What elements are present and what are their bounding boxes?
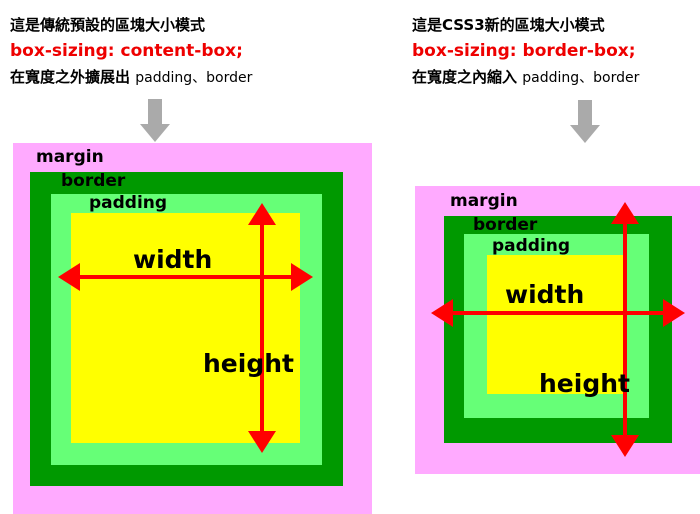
height-dimension-arrow: [248, 203, 276, 453]
caption-left-line-3: 在寬度之外擴展出 padding、border: [10, 64, 252, 91]
padding-label: padding: [89, 194, 167, 213]
arrow-head: [140, 124, 170, 142]
caption-left-code: box-sizing: content-box;: [10, 38, 252, 64]
height-label: height: [203, 350, 294, 377]
height-arrow-head-up: [248, 203, 276, 225]
box-model-diagram-content-box: margin border padding width height: [13, 143, 372, 514]
caption-right-line-3-prefix: 在寬度之內縮入: [412, 68, 517, 86]
caption-right-line-3: 在寬度之內縮入 padding、border: [412, 64, 639, 91]
height-arrow-head-down: [248, 431, 276, 453]
height-arrow-head-down: [611, 435, 639, 457]
margin-label: margin: [450, 192, 518, 211]
arrow-head: [570, 125, 600, 143]
arrow-down-icon: [140, 99, 170, 143]
height-arrow-head-up: [611, 202, 639, 224]
caption-right-line-1: 這是CSS3新的區塊大小模式: [412, 12, 639, 38]
height-dimension-arrow: [611, 202, 639, 457]
caption-left-line-3-mono: padding、border: [135, 70, 252, 86]
border-label: border: [61, 172, 125, 191]
caption-right-code: box-sizing: border-box;: [412, 38, 639, 64]
caption-content-box: 這是傳統預設的區塊大小模式 box-sizing: content-box; 在…: [10, 12, 252, 91]
arrow-shaft: [148, 99, 162, 125]
height-arrow-bar: [623, 215, 627, 444]
margin-label: margin: [36, 148, 104, 167]
caption-border-box: 這是CSS3新的區塊大小模式 box-sizing: border-box; 在…: [412, 12, 639, 91]
width-arrow-head-right: [291, 263, 313, 291]
caption-left-line-3-prefix: 在寬度之外擴展出: [10, 68, 130, 86]
width-arrow-head-left: [431, 299, 453, 327]
arrow-shaft: [578, 100, 592, 126]
border-label: border: [473, 216, 537, 235]
width-label: width: [133, 246, 212, 273]
height-arrow-bar: [260, 216, 264, 440]
caption-left-line-1: 這是傳統預設的區塊大小模式: [10, 12, 252, 38]
width-arrow-head-right: [663, 299, 685, 327]
caption-right-line-3-mono: padding、border: [522, 70, 639, 86]
width-label: width: [505, 281, 584, 308]
diagram-canvas: 這是傳統預設的區塊大小模式 box-sizing: content-box; 在…: [0, 0, 700, 514]
arrow-down-icon: [570, 100, 600, 144]
height-label: height: [539, 370, 630, 397]
padding-label: padding: [492, 237, 570, 256]
box-model-diagram-border-box: margin border padding width height: [415, 186, 700, 474]
width-arrow-head-left: [58, 263, 80, 291]
